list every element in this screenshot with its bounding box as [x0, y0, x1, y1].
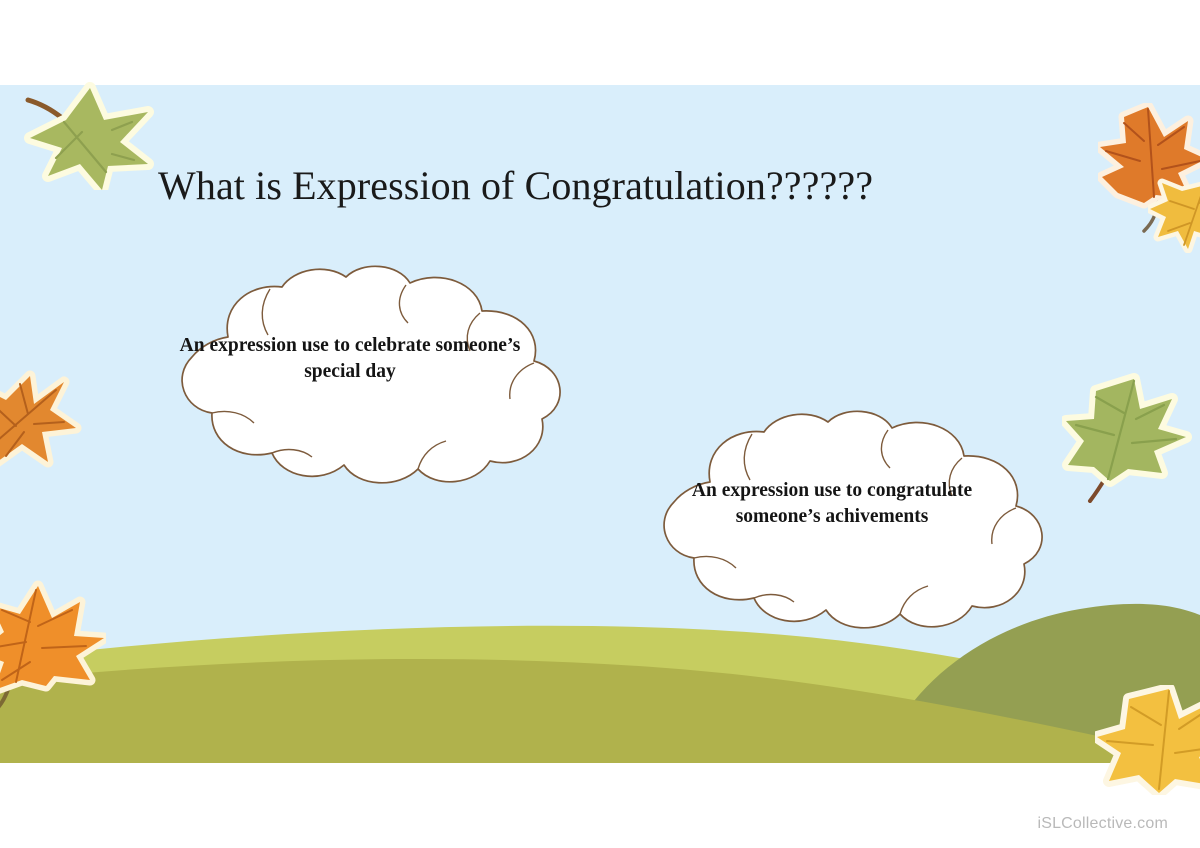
cloud-text-celebrate: An expression use to celebrate someone’s… [170, 333, 530, 385]
watermark-islcollective: iSLCollective.com [1037, 815, 1168, 833]
slide-canvas: What is Expression of Congratulation????… [0, 85, 1200, 763]
cloud-callout-congratulate: An expression use to congratulate someon… [592, 410, 1072, 635]
cloud-text-congratulate: An expression use to congratulate someon… [652, 478, 1012, 530]
cloud-callout-celebrate: An expression use to celebrate someone’s… [110, 265, 590, 490]
slide-root: What is Expression of Congratulation????… [0, 0, 1200, 848]
page-title: What is Expression of Congratulation????… [158, 163, 1058, 209]
